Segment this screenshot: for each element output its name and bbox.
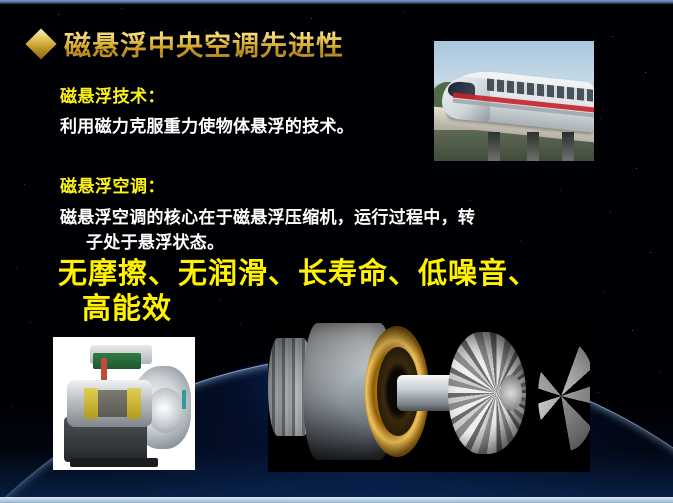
compressor-coil xyxy=(84,388,98,420)
diamond-bullet-icon xyxy=(25,28,56,59)
section-body-maglev-hvac-line2: 子处于悬浮状态。 xyxy=(86,228,224,253)
section-heading-maglev-hvac: 磁悬浮空调： xyxy=(60,172,165,197)
compressor-mounting-foot xyxy=(70,458,158,467)
presentation-slide: 磁悬浮中央空调先进性 磁悬浮技术： 利用磁力克服重力使物体悬浮的技术。 磁悬浮空… xyxy=(0,0,673,503)
compressor-coil xyxy=(127,388,141,420)
train-photo-pier xyxy=(562,132,574,161)
key-benefits-text: 无摩擦、无润滑、长寿命、低噪音、 高能效 xyxy=(58,256,618,327)
compressor-inlet xyxy=(147,388,184,433)
magnetic-bearing-compressor-cutaway-photo xyxy=(53,337,195,470)
key-benefits-line1: 无摩擦、无润滑、长寿命、低噪音、 xyxy=(58,256,538,290)
section-heading-maglev-technology: 磁悬浮技术： xyxy=(60,82,165,107)
section-body-maglev-technology: 利用磁力克服重力使物体悬浮的技术。 xyxy=(60,112,354,137)
train-photo-pier xyxy=(488,132,500,161)
train-photo-pier xyxy=(527,132,539,161)
compressor-teal-part xyxy=(182,390,186,409)
render-vignette xyxy=(268,320,590,472)
slide-bottom-border xyxy=(0,497,673,503)
slide-title-row: 磁悬浮中央空调先进性 xyxy=(30,24,344,63)
magnetic-bearing-impeller-3d-render xyxy=(268,320,590,472)
maglev-train-photo xyxy=(434,41,594,161)
compressor-red-part xyxy=(101,358,107,379)
page-title: 磁悬浮中央空调先进性 xyxy=(64,24,344,63)
slide-top-border xyxy=(0,0,673,4)
compressor-control-board xyxy=(93,353,141,369)
section-body-maglev-hvac-line1: 磁悬浮空调的核心在于磁悬浮压缩机，运行过程中，转 xyxy=(60,203,475,228)
